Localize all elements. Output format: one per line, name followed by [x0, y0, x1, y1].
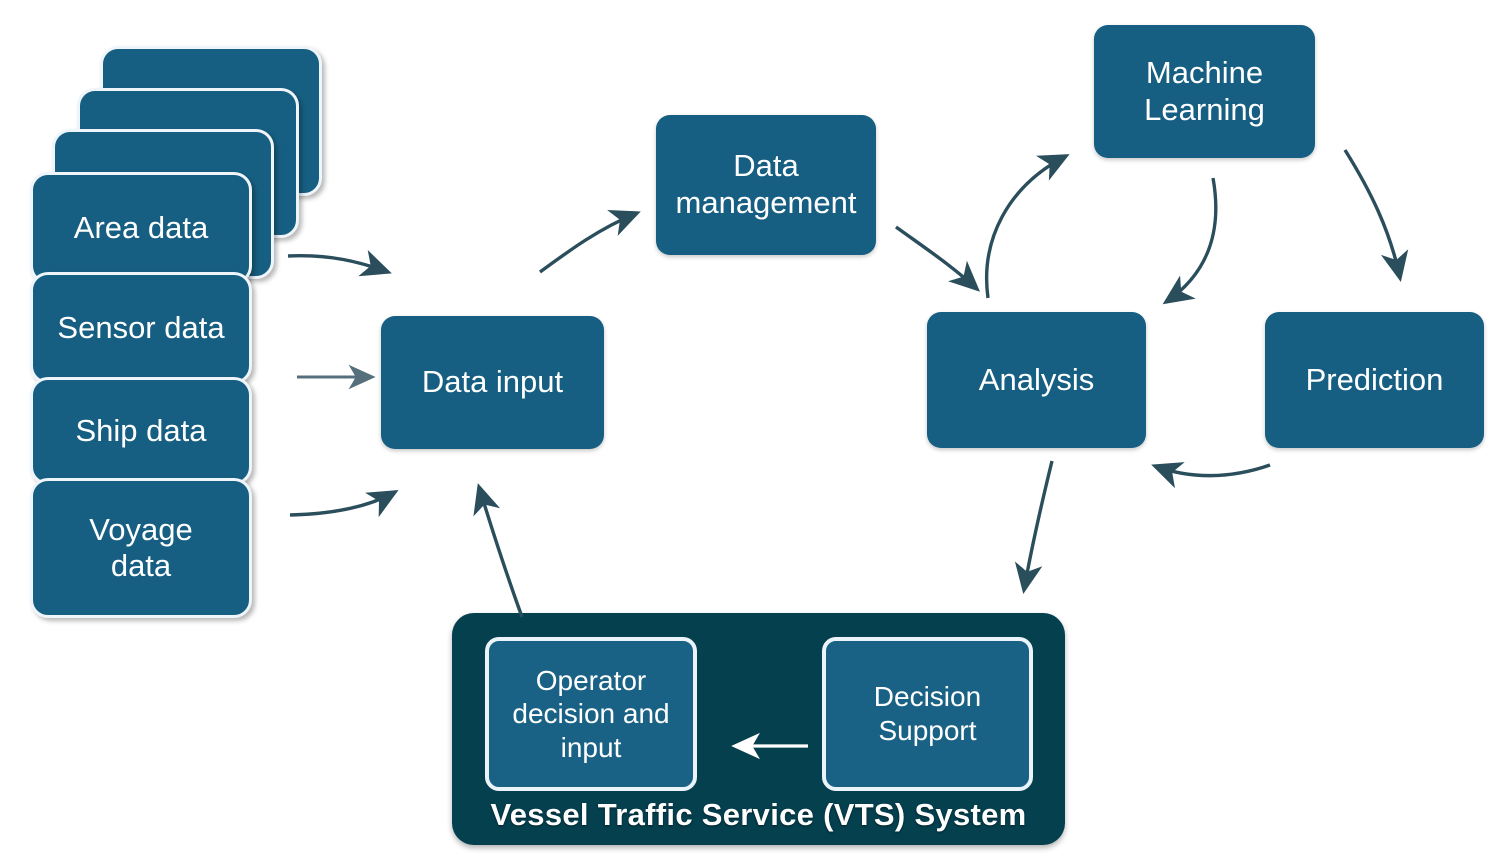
node-analysis[interactable]: Analysis: [927, 312, 1146, 448]
edge-voyage-to-input: [290, 492, 395, 515]
edge-ml-to-prediction: [1345, 150, 1400, 278]
source-card-ship-data[interactable]: Ship data: [30, 377, 252, 485]
node-machine-learning[interactable]: Machine Learning: [1094, 25, 1315, 158]
vts-panel-title: Vessel Traffic Service (VTS) System: [452, 797, 1065, 833]
edge-management-to-analysis: [896, 227, 977, 289]
node-label: Data input: [422, 364, 563, 401]
source-card-sensor-data[interactable]: Sensor data: [30, 272, 252, 384]
edge-analysis-to-decision: [1024, 461, 1052, 590]
node-label: Analysis: [979, 362, 1094, 399]
edge-prediction-to-analysis: [1155, 465, 1270, 476]
vts-decision-support-box[interactable]: Decision Support: [822, 637, 1033, 791]
vts-box-label: Decision Support: [874, 680, 981, 747]
diagram-canvas: Area data Sensor data Ship data Voyage d…: [0, 0, 1507, 860]
source-card-label: Area data: [74, 210, 208, 246]
vts-operator-decision-box[interactable]: Operator decision and input: [485, 637, 697, 791]
node-data-input[interactable]: Data input: [381, 316, 604, 449]
edge-ml-to-analysis: [1166, 178, 1216, 302]
edge-analysis-to-ml: [987, 156, 1066, 298]
node-prediction[interactable]: Prediction: [1265, 312, 1484, 448]
edge-area-to-input: [288, 256, 388, 272]
source-card-area-data[interactable]: Area data: [30, 172, 252, 284]
node-label: Machine Learning: [1144, 55, 1265, 128]
source-card-voyage-data[interactable]: Voyage data: [30, 478, 252, 618]
vts-box-label: Operator decision and input: [512, 664, 669, 765]
vts-system-panel: Operator decision and input Decision Sup…: [452, 613, 1065, 845]
node-label: Data management: [676, 148, 857, 221]
node-data-management[interactable]: Data management: [656, 115, 876, 255]
edge-operator-to-input: [479, 487, 522, 617]
edge-input-to-management: [540, 213, 637, 272]
source-card-label: Voyage data: [89, 512, 192, 583]
node-label: Prediction: [1306, 362, 1444, 399]
source-card-label: Sensor data: [57, 310, 224, 346]
source-card-label: Ship data: [76, 413, 207, 449]
